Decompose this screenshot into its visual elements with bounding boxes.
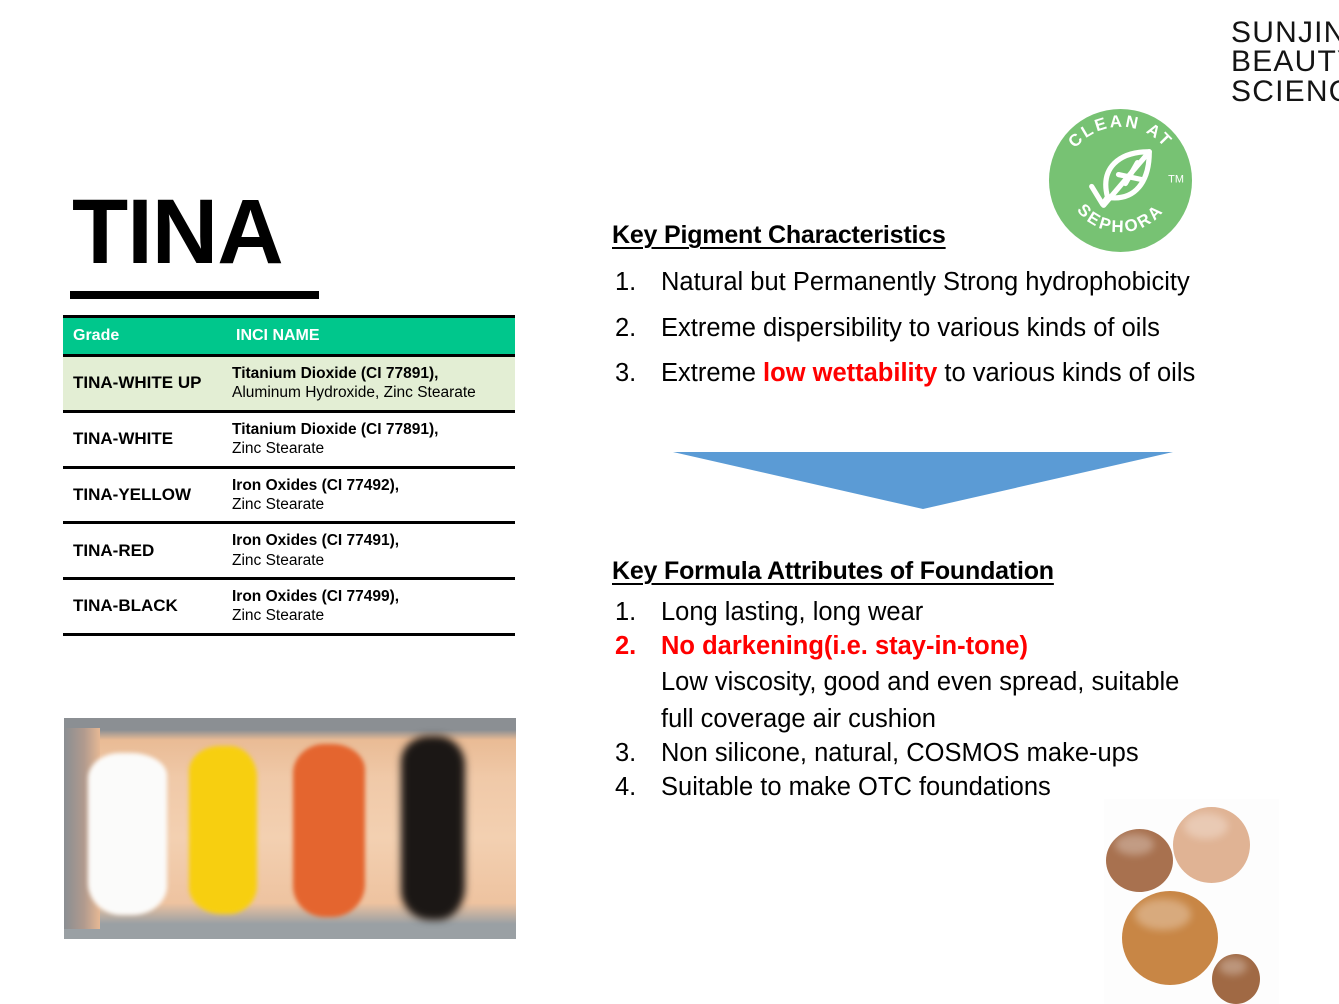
list-number: 1. <box>615 270 636 296</box>
inci-sub: Aluminum Hydroxide, Zinc Stearate <box>232 383 511 402</box>
table-row: TINA-WHITE Titanium Dioxide (CI 77891), … <box>63 411 515 467</box>
cell-grade: TINA-WHITE UP <box>63 356 226 412</box>
table-row: TINA-BLACK Iron Oxides (CI 77499), Zinc … <box>63 579 515 635</box>
foundation-drop-medium-tan <box>1106 829 1173 892</box>
pigment-heading: Key Pigment Characteristics <box>612 221 1195 250</box>
swatch-white <box>88 753 167 915</box>
table-row: TINA-WHITE UP Titanium Dioxide (CI 77891… <box>63 356 515 412</box>
list-number: 1. <box>615 600 636 626</box>
brand-logo: SUNJIN BEAUTY SCIENCE <box>1231 18 1339 106</box>
foundation-shade-droplets-image <box>1104 799 1279 1004</box>
cell-grade: TINA-WHITE <box>63 411 226 467</box>
brand-logo-line-3: SCIENCE <box>1231 77 1339 106</box>
list-text-pre: Extreme <box>661 359 763 387</box>
list-item: 2. Extreme dispersibility to various kin… <box>612 316 1195 342</box>
list-text-post: to various kinds of oils <box>937 359 1195 387</box>
list-text: Extreme dispersibility to various kinds … <box>661 314 1160 342</box>
brand-logo-line-1: SUNJIN <box>1231 18 1339 47</box>
formula-sub-line: Low viscosity, good and even spread, sui… <box>612 667 1179 698</box>
inci-main: Titanium Dioxide (CI 77891), <box>232 420 511 439</box>
list-item: 2. No darkening(i.e. stay-in-tone) <box>612 634 1179 660</box>
table-header-row: Grade INCI NAME <box>63 317 515 356</box>
list-text: No darkening(i.e. stay-in-tone) <box>661 632 1028 660</box>
inci-main: Iron Oxides (CI 77492), <box>232 476 511 495</box>
table-row: TINA-RED Iron Oxides (CI 77491), Zinc St… <box>63 523 515 579</box>
cell-inci: Iron Oxides (CI 77491), Zinc Stearate <box>226 523 515 579</box>
list-number: 3. <box>615 361 636 387</box>
list-item: 4. Suitable to make OTC foundations <box>612 775 1179 801</box>
cell-inci: Iron Oxides (CI 77499), Zinc Stearate <box>226 579 515 635</box>
inci-sub: Zinc Stearate <box>232 495 511 514</box>
cell-grade: TINA-YELLOW <box>63 467 226 523</box>
foundation-drop-golden <box>1122 891 1218 985</box>
list-item: 1. Natural but Permanently Strong hydrop… <box>612 270 1195 296</box>
brand-logo-line-2: BEAUTY <box>1231 47 1339 76</box>
list-text: Suitable to make OTC foundations <box>661 773 1051 801</box>
table-row: TINA-YELLOW Iron Oxides (CI 77492), Zinc… <box>63 467 515 523</box>
foundation-drop-deep <box>1212 954 1260 1004</box>
list-text-emphasis: low wettability <box>763 359 937 387</box>
pigment-list: 1. Natural but Permanently Strong hydrop… <box>612 270 1195 387</box>
foundation-drop-light <box>1173 807 1250 883</box>
inci-main: Titanium Dioxide (CI 77891), <box>232 364 511 383</box>
key-pigment-characteristics-block: Key Pigment Characteristics 1. Natural b… <box>612 221 1195 407</box>
grade-inci-table: Grade INCI NAME TINA-WHITE UP Titanium D… <box>63 315 515 636</box>
title-underline <box>70 291 319 299</box>
cell-grade: TINA-RED <box>63 523 226 579</box>
inci-sub: Zinc Stearate <box>232 439 511 458</box>
cell-inci: Titanium Dioxide (CI 77891), Zinc Steara… <box>226 411 515 467</box>
inci-sub: Zinc Stearate <box>232 606 511 625</box>
cell-inci: Titanium Dioxide (CI 77891), Aluminum Hy… <box>226 356 515 412</box>
cell-inci: Iron Oxides (CI 77492), Zinc Stearate <box>226 467 515 523</box>
formula-sub-line: full coverage air cushion <box>612 704 1179 735</box>
list-item: 3.Extreme low wettability to various kin… <box>612 361 1195 387</box>
down-arrow-icon <box>673 452 1173 509</box>
formula-heading: Key Formula Attributes of Foundation <box>612 557 1179 586</box>
list-item: 1. Long lasting, long wear <box>612 600 1179 626</box>
list-number: 3. <box>615 741 636 767</box>
list-text: Long lasting, long wear <box>661 598 923 626</box>
list-number: 2. <box>615 316 636 342</box>
column-header-inci-name: INCI NAME <box>226 317 515 356</box>
page-title: TINA <box>72 186 283 278</box>
swatch-black <box>401 736 465 920</box>
inci-sub: Zinc Stearate <box>232 551 511 570</box>
list-text: Non silicone, natural, COSMOS make-ups <box>661 739 1139 767</box>
list-number: 4. <box>615 775 636 801</box>
swatch-yellow <box>189 746 257 914</box>
inci-main: Iron Oxides (CI 77491), <box>232 531 511 550</box>
formula-list: 1. Long lasting, long wear 2. No darkeni… <box>612 600 1179 659</box>
column-header-grade: Grade <box>63 317 226 356</box>
pigment-swatches-on-arm-image <box>64 718 516 939</box>
list-text: Natural but Permanently Strong hydrophob… <box>661 268 1190 296</box>
cell-grade: TINA-BLACK <box>63 579 226 635</box>
list-item: 3. Non silicone, natural, COSMOS make-up… <box>612 741 1179 767</box>
swatch-red <box>293 744 365 917</box>
formula-list-continued: 3. Non silicone, natural, COSMOS make-up… <box>612 741 1179 800</box>
inci-main: Iron Oxides (CI 77499), <box>232 587 511 606</box>
list-number: 2. <box>615 634 636 660</box>
key-formula-attributes-block: Key Formula Attributes of Foundation 1. … <box>612 557 1179 808</box>
badge-trademark: TM <box>1168 173 1184 185</box>
